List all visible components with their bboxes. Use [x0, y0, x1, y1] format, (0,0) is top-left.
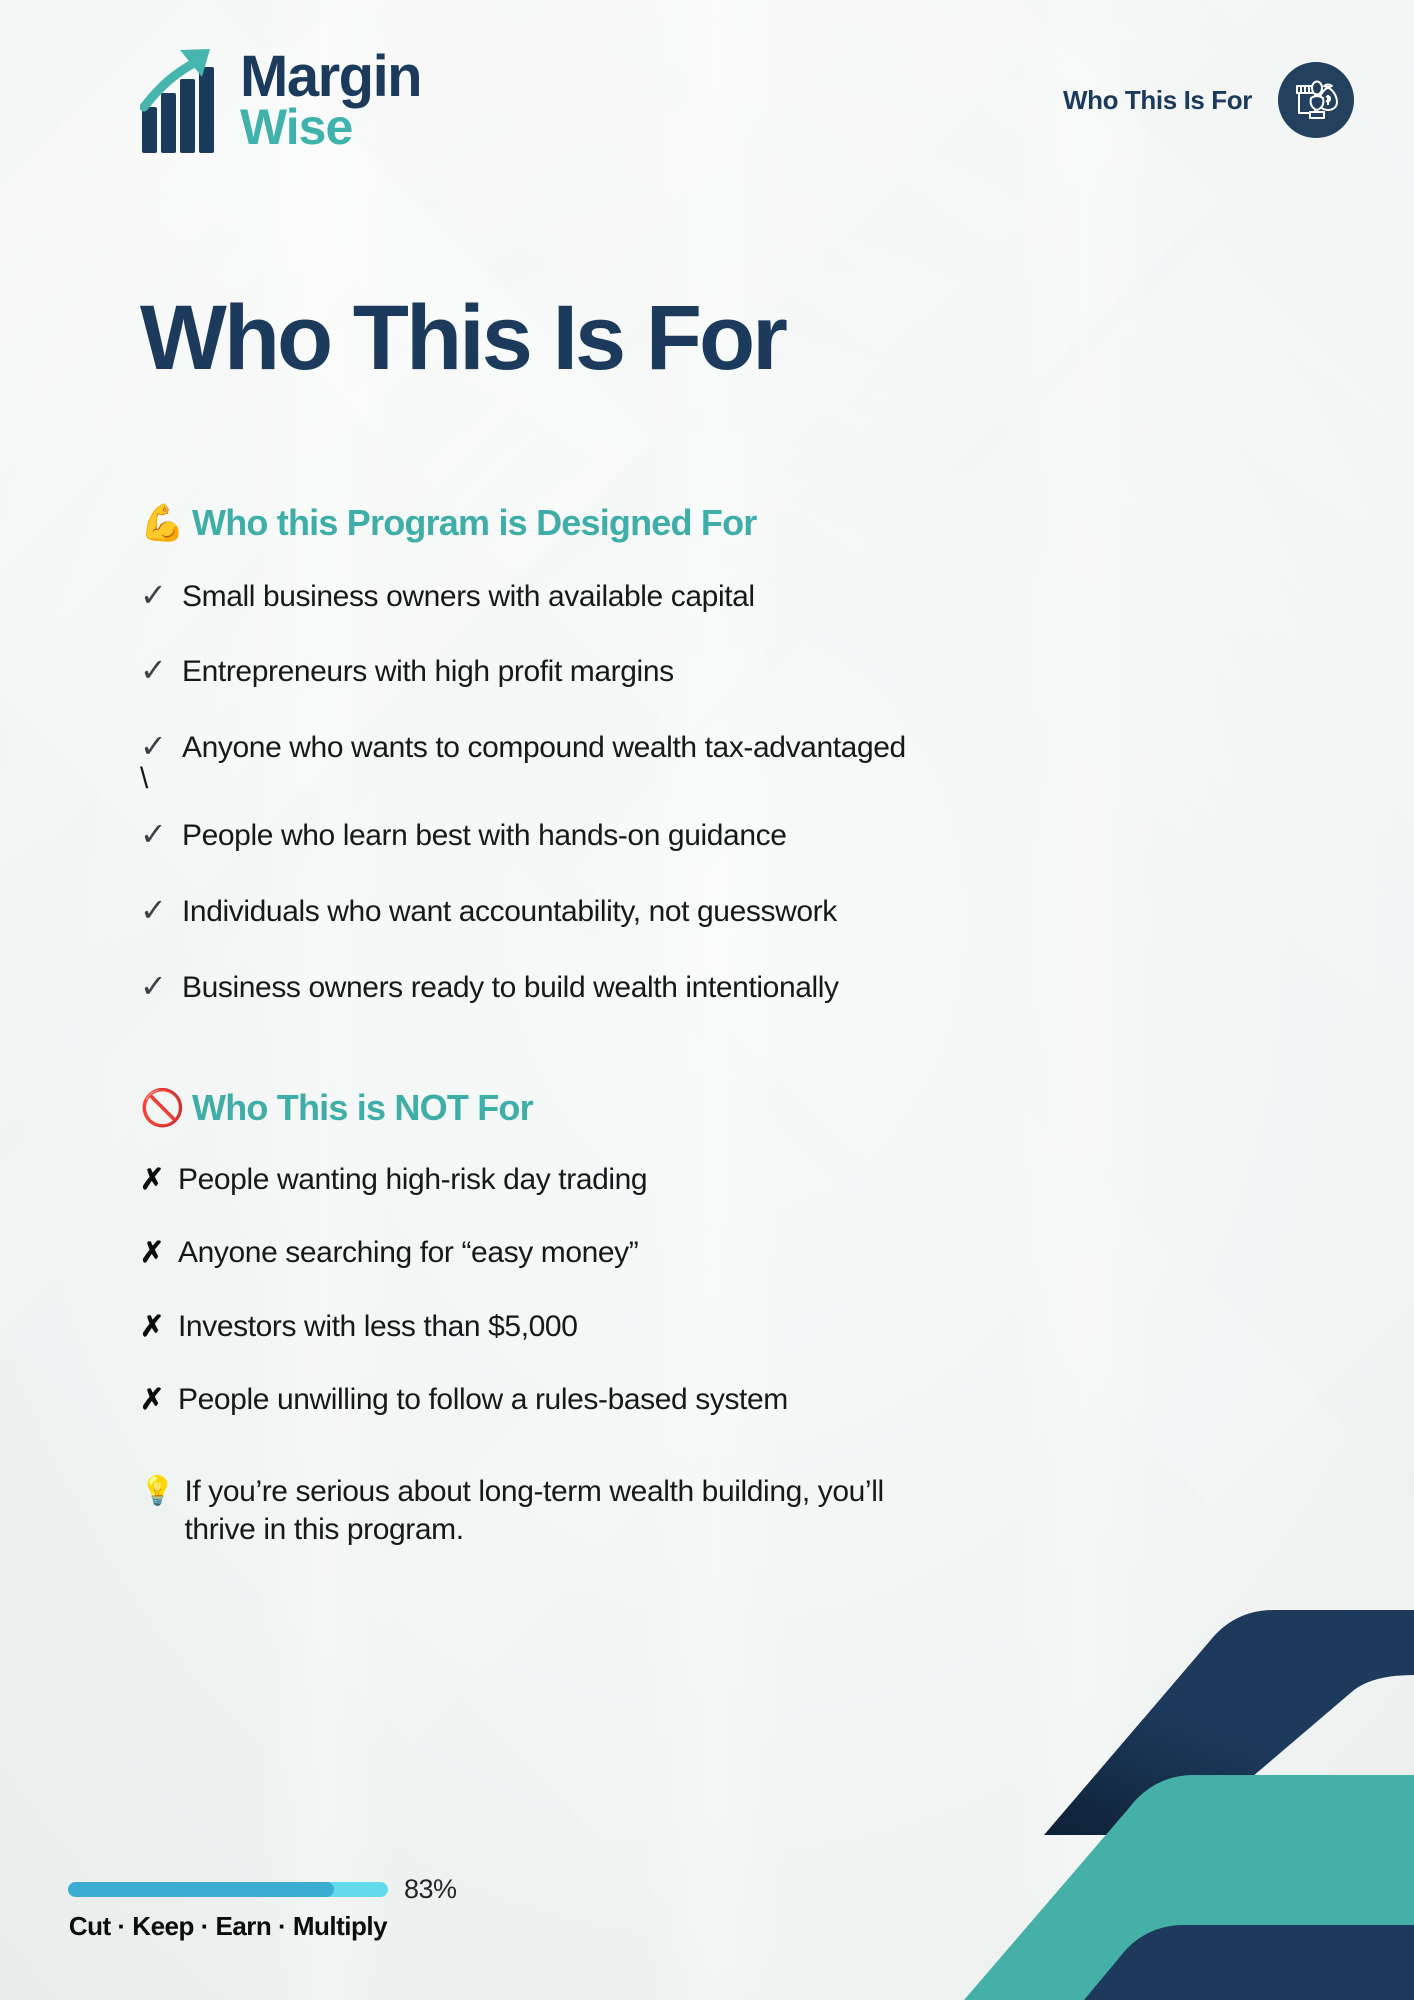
poster-page: Margin Wise Who This Is For — [0, 0, 1414, 2000]
section-heading-designed-for: 💪 Who this Program is Designed For — [140, 502, 1344, 544]
brand-wordmark: Margin Wise — [240, 50, 421, 149]
closing-tip: 💡 If you’re serious about long-term weal… — [140, 1473, 920, 1550]
closing-tip-text: If you’re serious about long-term wealth… — [184, 1473, 920, 1550]
header-badge — [1278, 62, 1354, 138]
check-mark-icon: ✓ — [140, 969, 170, 1005]
brand-name-margin: Margin — [240, 50, 421, 103]
light-bulb-emoji: 💡 — [140, 1473, 174, 1550]
list-item-label: Individuals who want accountability, not… — [182, 895, 837, 929]
progress-row: 83% — [68, 1874, 498, 1905]
header-right-group: Who This Is For — [1063, 62, 1354, 138]
list-item: ✓ Entrepreneurs with high profit margins — [140, 653, 1344, 689]
list-item-label: Investors with less than $5,000 — [178, 1310, 578, 1344]
list-item-label: Anyone searching for “easy money” — [178, 1236, 638, 1270]
shop-owner-money-bag-icon — [1290, 74, 1342, 126]
check-mark-icon: ✓ — [140, 817, 170, 853]
cross-mark-icon: ✗ — [140, 1384, 166, 1416]
page-title: Who This Is For — [140, 290, 1344, 387]
list-item-label: People unwilling to follow a rules-based… — [178, 1383, 788, 1417]
list-item: ✓ Anyone who wants to compound wealth ta… — [140, 729, 1344, 765]
header-section-label: Who This Is For — [1063, 85, 1252, 116]
section-heading-not-for: 🚫 Who This is NOT For — [140, 1087, 1344, 1129]
list-item-label: Small business owners with available cap… — [182, 580, 755, 614]
stray-backslash-artifact: \ — [140, 771, 1344, 797]
list-item: ✓ Individuals who want accountability, n… — [140, 893, 1344, 929]
list-item-label: Entrepreneurs with high profit margins — [182, 655, 674, 689]
section-heading-text: Who This is NOT For — [192, 1087, 533, 1129]
ribbon-navy-lower — [1084, 1925, 1414, 2000]
flexed-biceps-emoji: 💪 — [140, 505, 184, 541]
brand-name-wise: Wise — [240, 104, 421, 150]
cross-mark-icon: ✗ — [140, 1311, 166, 1343]
brand-logo: Margin Wise — [140, 45, 421, 155]
ribbon-teal — [964, 1775, 1414, 2000]
check-mark-icon: ✓ — [140, 653, 170, 689]
list-item: ✓ Business owners ready to build wealth … — [140, 969, 1344, 1005]
growth-bar-chart-arrow-icon — [140, 45, 232, 155]
list-item: ✗ Investors with less than $5,000 — [140, 1310, 1344, 1344]
list-item-label: Anyone who wants to compound wealth tax-… — [182, 731, 906, 765]
list-item: ✗ People wanting high-risk day trading — [140, 1163, 1344, 1197]
not-for-list: ✗ People wanting high-risk day trading ✗… — [140, 1163, 1344, 1417]
check-mark-icon: ✓ — [140, 578, 170, 614]
progress-bar-fill — [68, 1882, 334, 1897]
check-mark-icon: ✓ — [140, 729, 170, 765]
check-mark-icon: ✓ — [140, 893, 170, 929]
main-content: Who This Is For 💪 Who this Program is De… — [140, 290, 1344, 1550]
list-item-label: Business owners ready to build wealth in… — [182, 971, 839, 1005]
list-item: ✓ People who learn best with hands-on gu… — [140, 817, 1344, 853]
corner-ribbon-decoration — [714, 1580, 1414, 2000]
cross-mark-icon: ✗ — [140, 1237, 166, 1269]
page-header: Margin Wise Who This Is For — [0, 0, 1414, 200]
list-item-label: People wanting high-risk day trading — [178, 1163, 647, 1197]
list-item: ✓ Small business owners with available c… — [140, 578, 1344, 614]
section-heading-text: Who this Program is Designed For — [192, 502, 756, 544]
progress-percent-label: 83% — [404, 1874, 457, 1905]
prohibited-emoji: 🚫 — [140, 1090, 184, 1126]
ribbon-navy-upper — [1044, 1610, 1414, 1835]
brand-tagline: Cut · Keep · Earn · Multiply — [68, 1911, 388, 1942]
list-item: ✗ People unwilling to follow a rules-bas… — [140, 1383, 1344, 1417]
designed-for-list: ✓ Small business owners with available c… — [140, 578, 1344, 1005]
list-item: ✗ Anyone searching for “easy money” — [140, 1236, 1344, 1270]
progress-bar — [68, 1882, 388, 1897]
cross-mark-icon: ✗ — [140, 1164, 166, 1196]
page-footer: 83% Cut · Keep · Earn · Multiply — [68, 1874, 498, 1942]
list-item-label: People who learn best with hands-on guid… — [182, 819, 787, 853]
